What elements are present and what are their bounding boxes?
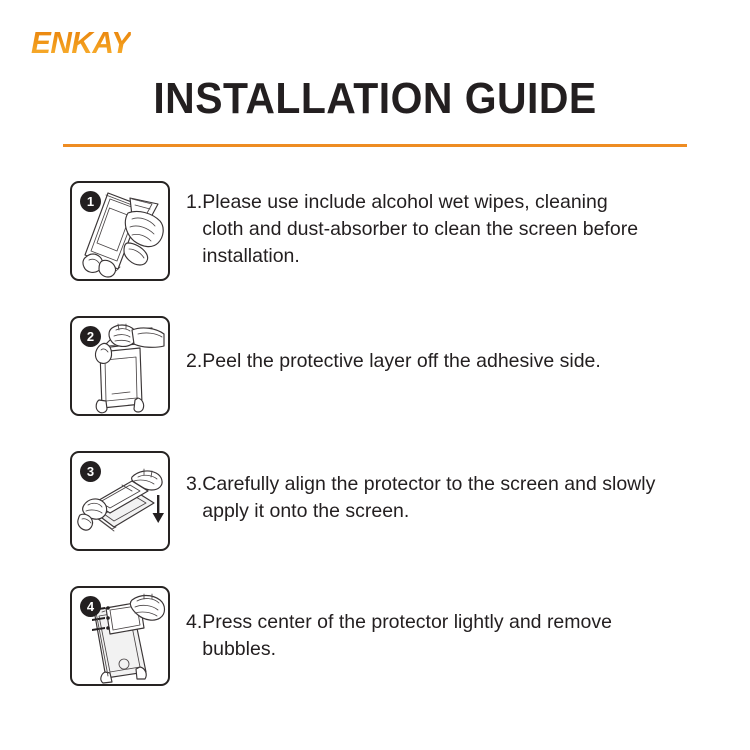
step-4-number-badge: 4 <box>80 596 101 617</box>
list-item: 4 <box>0 586 750 721</box>
step-1-description: Please use include alcohol wet wipes, cl… <box>202 189 641 270</box>
step-4-number-label: 4. <box>186 609 202 636</box>
step-3-number-badge: 3 <box>80 461 101 482</box>
step-3-text: 3. Carefully align the protector to the … <box>186 471 706 525</box>
step-1-illustration: 1 <box>70 181 170 281</box>
step-2-description: Peel the protective layer off the adhesi… <box>202 348 698 375</box>
step-4-illustration: 4 <box>70 586 170 686</box>
step-2-text: 2. Peel the protective layer off the adh… <box>186 348 698 375</box>
step-1-number-badge: 1 <box>80 191 101 212</box>
step-1-text: 1. Please use include alcohol wet wipes,… <box>186 189 641 270</box>
step-2-number-label: 2. <box>186 348 202 375</box>
instruction-steps-list: 1 <box>0 181 750 721</box>
page-title: INSTALLATION GUIDE <box>26 74 724 124</box>
brand-logo: ENKAY <box>31 25 135 59</box>
step-2-illustration: 2 <box>70 316 170 416</box>
step-4-description: Press center of the protector lightly an… <box>202 609 686 663</box>
step-1-number-label: 1. <box>186 189 202 216</box>
list-item: 1 <box>0 181 750 316</box>
down-arrow-icon <box>153 495 165 523</box>
step-3-number-label: 3. <box>186 471 202 498</box>
step-2-number-badge: 2 <box>80 326 101 347</box>
step-4-text: 4. Press center of the protector lightly… <box>186 609 686 663</box>
brand-name: ENKAY <box>31 27 131 58</box>
list-item: 3 <box>0 451 750 586</box>
step-3-description: Carefully align the protector to the scr… <box>202 471 706 525</box>
list-item: 2 <box>0 316 750 451</box>
header-divider <box>63 144 687 147</box>
step-3-illustration: 3 <box>70 451 170 551</box>
